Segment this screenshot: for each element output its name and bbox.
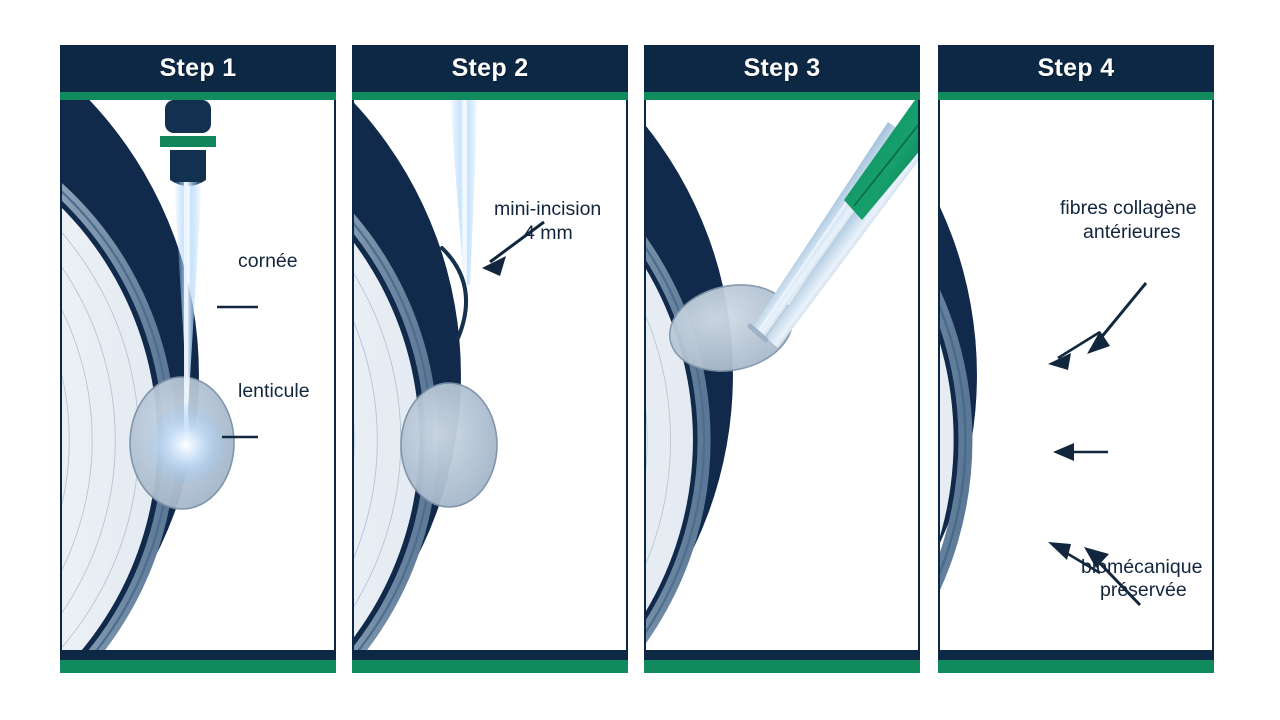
illustration-step-2: [354, 100, 628, 650]
panel-step-2: Step 2: [352, 45, 628, 673]
laser-head-upper: [165, 100, 211, 133]
panel-header-step-4: Step 4: [938, 45, 1214, 92]
panel-title-step-2: Step 2: [452, 54, 529, 83]
figure-canvas: Step 1: [0, 0, 1280, 720]
panel-green-accent-4: [938, 92, 1214, 100]
panel-title-step-1: Step 1: [160, 54, 237, 83]
forceps-tool: [750, 100, 920, 348]
illustration-step-1: [62, 100, 336, 650]
laser-beam: [450, 100, 478, 286]
laser-focal-glow: [144, 403, 228, 487]
lenticule-label: lenticule: [238, 380, 310, 403]
laser-head-green-band: [160, 136, 216, 147]
mini-incision-label-line1: mini-incision: [494, 198, 601, 221]
biomechanics-preserved-label-line1: biomécanique: [1081, 556, 1202, 579]
eye-cross-section-3: [646, 100, 800, 650]
panel-step-1: Step 1: [60, 45, 336, 673]
illustration-step-3: [646, 100, 920, 650]
laser-device: [160, 100, 216, 186]
biomechanics-preserved-label-line2: préservée: [1100, 579, 1187, 602]
panel-step-3: Step 3: [644, 45, 920, 673]
anterior-collagen-fibers-label-line1: fibres collagène: [1060, 197, 1197, 220]
panel-green-accent-2: [352, 92, 628, 100]
panel-header-step-1: Step 1: [60, 45, 336, 92]
panel-footer-navy-4: [938, 650, 1214, 660]
inward-arrows: [1048, 332, 1108, 573]
eye-cross-section-2: [354, 100, 461, 650]
panel-title-step-4: Step 4: [1038, 54, 1115, 83]
laser-head-nozzle: [170, 150, 206, 186]
lenticule-shape: [401, 383, 497, 507]
panel-green-accent-1: [60, 92, 336, 100]
panel-body-step-2: [352, 100, 628, 650]
mini-incision-label-line2: 4 mm: [524, 222, 573, 245]
panel-footer-navy-2: [352, 650, 628, 660]
panel-footer-green-2: [352, 660, 628, 673]
inward-arrow-middle: [1053, 443, 1108, 461]
cornea-label: cornée: [238, 250, 298, 273]
anterior-fibers-arrow: [1087, 283, 1146, 354]
anterior-collagen-fibers-label-line2: antérieures: [1083, 221, 1181, 244]
panel-body-step-1: [60, 100, 336, 650]
panel-header-step-3: Step 3: [644, 45, 920, 92]
panel-body-step-3: [644, 100, 920, 650]
panel-footer-green-4: [938, 660, 1214, 673]
panel-footer-navy-3: [644, 650, 920, 660]
panel-header-step-2: Step 2: [352, 45, 628, 92]
panel-footer-green-1: [60, 660, 336, 673]
panel-title-step-3: Step 3: [744, 54, 821, 83]
eye-cross-section-4: [940, 100, 977, 650]
panel-green-accent-3: [644, 92, 920, 100]
panel-footer-navy-1: [60, 650, 336, 660]
panel-footer-green-3: [644, 660, 920, 673]
